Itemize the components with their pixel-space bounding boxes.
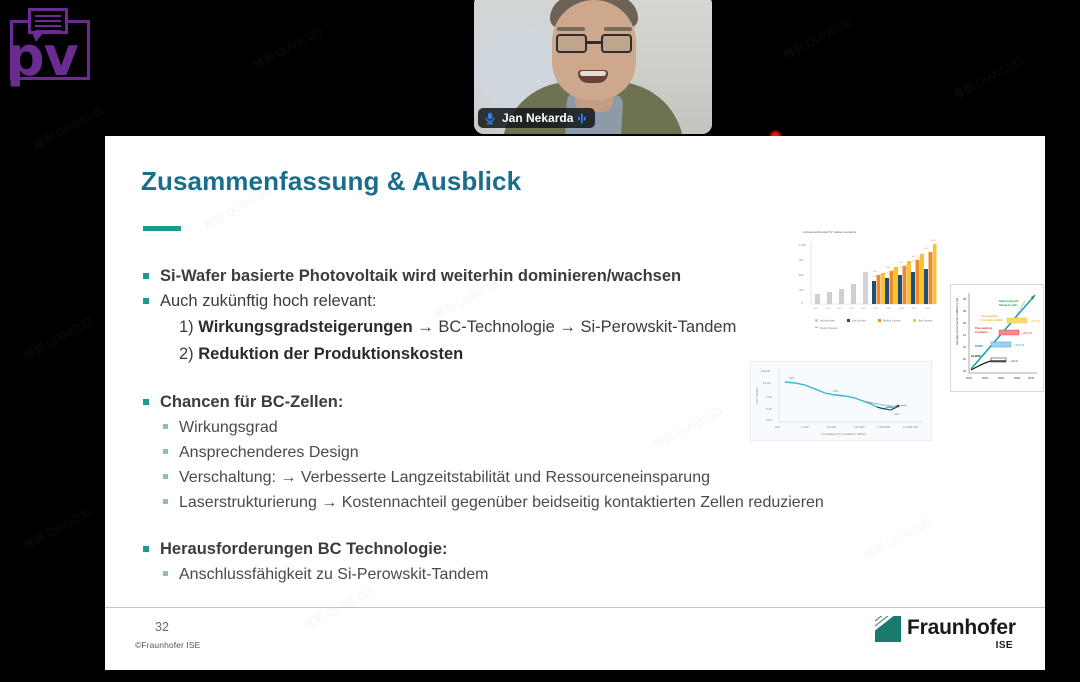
challenges-heading: Herausforderungen BC Technologie: — [141, 537, 1021, 562]
challenges-item-list: Anschlussfähigkeit zu Si-Perowskit-Tande… — [141, 562, 1021, 587]
svg-text:2021: 2021 — [837, 308, 843, 310]
svg-text:2019: 2019 — [813, 308, 819, 310]
figure-pv-learning-curve-line-chart: 100.00 10.00 1.00 0.10 0.01 Price ($/Wp)… — [750, 361, 932, 441]
svg-text:2022: 2022 — [849, 308, 855, 310]
svg-text:860: 860 — [912, 256, 916, 258]
svg-text:740: 740 — [899, 262, 903, 264]
roadmap-svg: Average cell conversion efficiency [%] 3… — [951, 285, 1043, 391]
svg-text:2023: 2023 — [861, 308, 867, 310]
svg-text:Price ($/Wp): Price ($/Wp) — [755, 387, 759, 404]
svg-text:28: 28 — [963, 309, 967, 313]
svg-text:2025: 2025 — [1014, 376, 1021, 380]
svg-text:2020: 2020 — [825, 308, 831, 310]
svg-text:30: 30 — [963, 297, 967, 301]
svg-text:560: 560 — [873, 271, 877, 273]
numbered-marker: 2) — [179, 345, 194, 363]
list-item: Anschlussfähigkeit zu Si-Perowskit-Tande… — [161, 562, 1021, 587]
figure-cell-efficiency-roadmap-chart: Average cell conversion efficiency [%] 3… — [950, 284, 1044, 392]
svg-text:Average cell conversion effici: Average cell conversion efficiency [%] — [955, 298, 959, 345]
svg-text:Historical data: Historical data — [820, 320, 835, 323]
svg-text:Al-BSF: Al-BSF — [971, 354, 981, 358]
svg-text:20: 20 — [963, 357, 967, 361]
svg-text:600: 600 — [799, 273, 804, 277]
svg-text:2026: 2026 — [899, 308, 905, 310]
svg-text:2025: 2025 — [886, 308, 892, 310]
svg-text:Cumulative PV Installation (MW: Cumulative PV Installation (MWp) — [821, 432, 866, 436]
svg-text:2027: 2027 — [912, 308, 918, 310]
microphone-icon — [483, 111, 497, 125]
challenges-heading-list: Herausforderungen BC Technologie: — [141, 537, 1021, 562]
svg-text:1180: 1180 — [931, 240, 936, 242]
conference-app-background: pv Jan Ne — [0, 0, 1080, 682]
svg-text:1 000: 1 000 — [801, 425, 809, 429]
svg-text:High Scenario: High Scenario — [918, 320, 933, 323]
svg-text:~ 25.0 %: ~ 25.0 % — [1021, 331, 1033, 335]
presentation-slide[interactable]: Zusammenfassung & Ausblick Si-Wafer basi… — [105, 136, 1045, 670]
svg-text:PERC: PERC — [975, 344, 984, 348]
slide-title: Zusammenfassung & Ausblick — [141, 166, 521, 197]
svg-text:Low Scenario: Low Scenario — [852, 320, 867, 323]
svg-text:Tandem cells: Tandem cells — [999, 303, 1018, 307]
svg-text:1.00: 1.00 — [766, 395, 772, 399]
svg-text:~ 23.5 %: ~ 23.5 % — [1013, 343, 1025, 347]
svg-text:640: 640 — [886, 267, 890, 269]
svg-text:300: 300 — [799, 288, 804, 292]
fraunhofer-logo: Fraunhofer ISE — [875, 614, 1015, 656]
svg-text:1,200: 1,200 — [799, 243, 806, 247]
svg-text:900: 900 — [799, 258, 804, 262]
logo-wordmark: pv — [6, 30, 78, 84]
svg-text:1010: 1010 — [924, 248, 930, 250]
pv-conference-logo: pv — [4, 4, 96, 92]
svg-text:Contacts: Contacts — [975, 330, 988, 334]
svg-text:2015: 2015 — [982, 376, 989, 380]
list-item: Ansprechenderes Design — [161, 440, 1021, 465]
svg-text:26: 26 — [963, 321, 967, 325]
participant-name-badge: Jan Nekarda — [478, 108, 595, 128]
svg-text:1980: 1980 — [789, 377, 795, 380]
numbered-marker: 1) — [179, 318, 194, 336]
svg-text:2000: 2000 — [833, 390, 839, 393]
svg-text:22: 22 — [963, 345, 967, 349]
numbered-bold-text: Reduktion der Produktionskosten — [198, 345, 463, 363]
copyright-text: ©Fraunhofer ISE — [135, 640, 200, 650]
participant-name: Jan Nekarda — [502, 111, 573, 125]
svg-text:2028: 2028 — [925, 308, 931, 310]
svg-text:Medium Scenario: Medium Scenario — [820, 327, 839, 330]
glasses — [554, 34, 634, 53]
svg-text:Annual world solar PV market s: Annual world solar PV market scenarios — [803, 230, 857, 234]
audio-level-icon — [578, 112, 587, 125]
svg-text:100.00: 100.00 — [761, 369, 771, 373]
svg-text:1 000 000: 1 000 000 — [877, 425, 891, 429]
svg-text:100 000: 100 000 — [854, 425, 865, 429]
list-item: Laserstrukturierung → Kostennachteil geg… — [161, 490, 1021, 515]
footer-divider — [105, 607, 1045, 608]
svg-text:100: 100 — [775, 425, 780, 429]
numbered-rest-text: → BC-Technologie → Si-Perowskit-Tandem — [413, 318, 737, 336]
svg-text:2010: 2010 — [966, 376, 973, 380]
svg-text:10.00: 10.00 — [763, 381, 771, 385]
svg-text:~ 28.0 %: ~ 28.0 % — [1029, 319, 1041, 323]
figure-pv-market-outlook-bar-chart: Annual world solar PV market scenarios 1… — [793, 224, 941, 336]
svg-text:Medium Scenario: Medium Scenario — [883, 320, 902, 323]
svg-text:2024: 2024 — [873, 308, 879, 310]
svg-text:0.10: 0.10 — [766, 407, 772, 411]
svg-text:Contacts BJBC: Contacts BJBC — [981, 318, 1004, 322]
svg-text:0: 0 — [801, 301, 803, 305]
page-number: 32 — [155, 620, 169, 634]
svg-text:2020: 2020 — [998, 376, 1005, 380]
svg-text:~ 20 %: ~ 20 % — [1009, 359, 1018, 363]
svg-text:18: 18 — [963, 369, 967, 373]
participant-video-tile[interactable]: Jan Nekarda — [474, 0, 712, 134]
svg-text:24: 24 — [963, 333, 967, 337]
svg-text:10 000 000: 10 000 000 — [903, 425, 918, 429]
bar-chart-svg: Annual world solar PV market scenarios 1… — [793, 224, 941, 336]
svg-text:0.01: 0.01 — [766, 418, 772, 422]
svg-text:2030: 2030 — [1028, 376, 1035, 380]
learning-curve-svg: 100.00 10.00 1.00 0.10 0.01 Price ($/Wp)… — [751, 362, 931, 440]
svg-text:2022: 2022 — [894, 413, 900, 416]
fraunhofer-wordmark: Fraunhofer — [907, 616, 1016, 640]
fraunhofer-institute-abbr: ISE — [996, 640, 1013, 651]
list-item: Verschaltung: → Verbesserte Langzeitstab… — [161, 465, 1021, 490]
title-accent-rule — [143, 226, 181, 231]
fraunhofer-mark-icon — [875, 616, 901, 642]
numbered-bold-text: Wirkungsgradsteigerungen — [198, 318, 412, 336]
svg-text:10 000: 10 000 — [827, 425, 837, 429]
